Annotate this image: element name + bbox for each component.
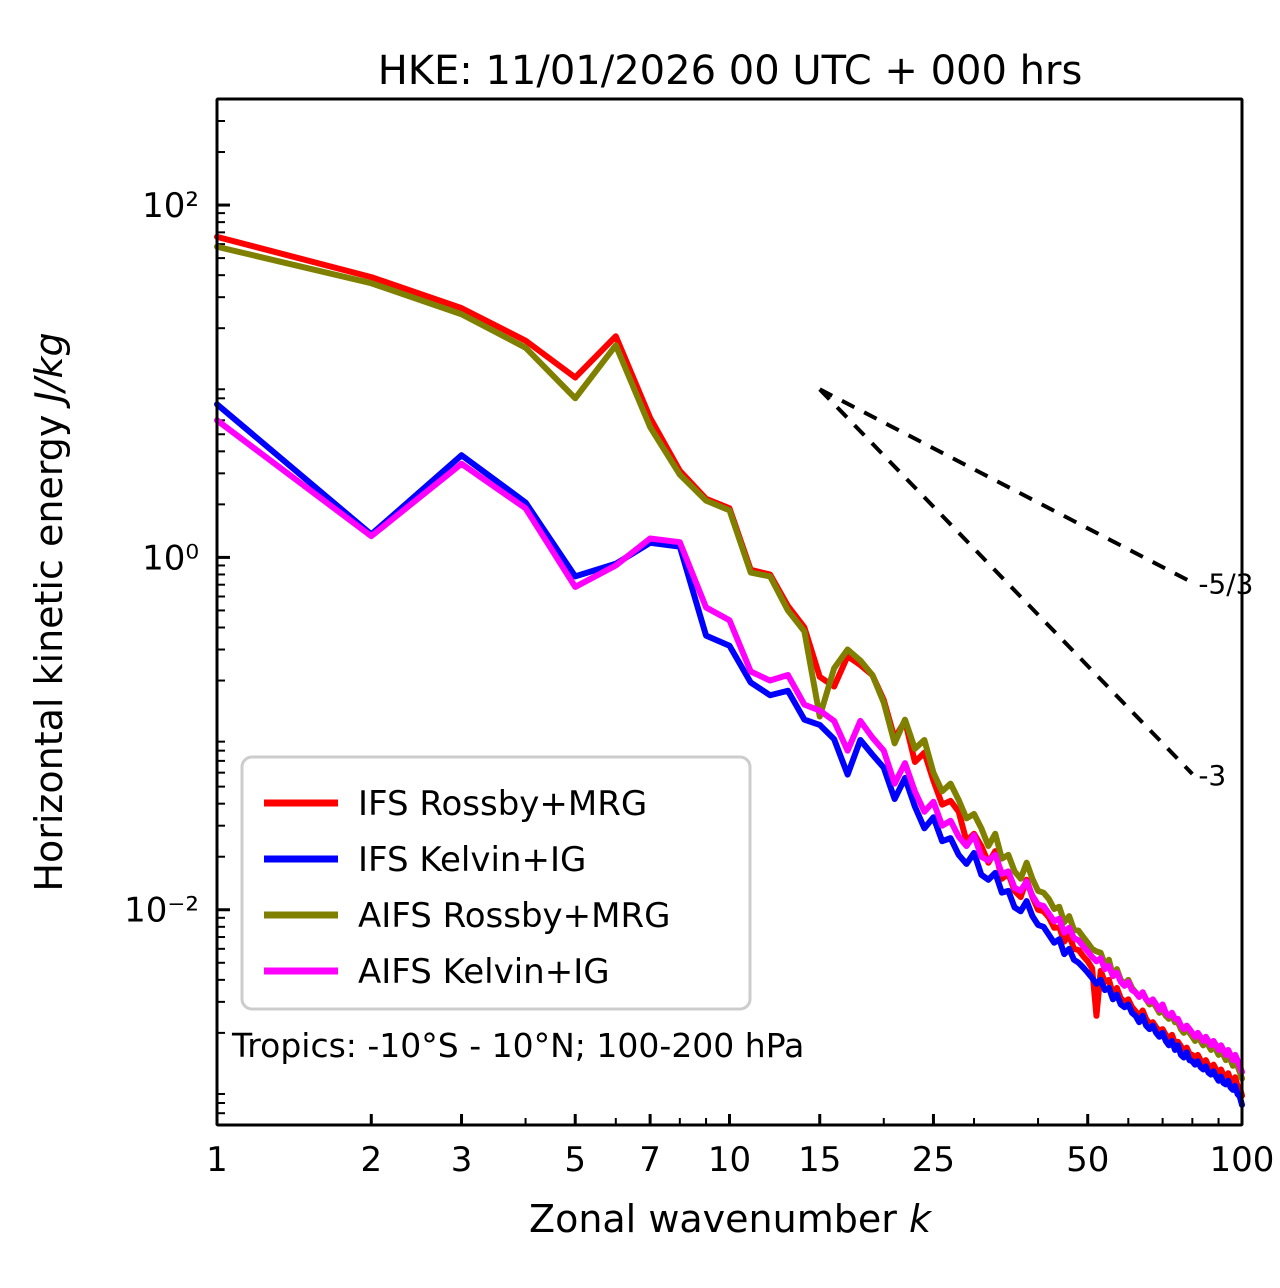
- legend[interactable]: IFS Rossby+MRGIFS Kelvin+IGAIFS Rossby+M…: [242, 757, 750, 1009]
- x-tick-label: 25: [912, 1140, 955, 1180]
- reference-line-label: -3: [1198, 759, 1226, 792]
- reference-line-label: -5/3: [1198, 568, 1253, 601]
- legend-label-ifs-rossby-mrg[interactable]: IFS Rossby+MRG: [358, 784, 647, 824]
- y-tick-label: 10⁰: [142, 538, 199, 578]
- legend-label-aifs-kelvin-ig[interactable]: AIFS Kelvin+IG: [358, 952, 610, 992]
- y-axis-label: Horizontal kinetic energy J/kg: [27, 332, 71, 891]
- x-axis-label: Zonal wavenumber k: [529, 1197, 933, 1241]
- x-tick-label: 5: [564, 1140, 586, 1180]
- y-tick-label: 10⁻²: [124, 891, 199, 931]
- x-tick-label: 3: [451, 1140, 473, 1180]
- x-tick-label: 15: [798, 1140, 841, 1180]
- x-tick-label: 100: [1210, 1140, 1275, 1180]
- hke-spectra-figure: HKE: 11/01/2026 00 UTC + 000 hrs 1235710…: [0, 0, 1280, 1288]
- x-tick-label: 10: [708, 1140, 751, 1180]
- x-tick-label: 2: [360, 1140, 382, 1180]
- region-annotation: Tropics: -10°S - 10°N; 100-200 hPa: [231, 1026, 804, 1065]
- legend-label-ifs-kelvin-ig[interactable]: IFS Kelvin+IG: [358, 840, 586, 880]
- x-tick-label: 1: [206, 1140, 228, 1180]
- y-tick-label: 10²: [142, 186, 199, 226]
- x-tick-label: 7: [639, 1140, 661, 1180]
- x-tick-label: 50: [1066, 1140, 1109, 1180]
- chart-title: HKE: 11/01/2026 00 UTC + 000 hrs: [378, 48, 1083, 94]
- legend-label-aifs-rossby-mrg[interactable]: AIFS Rossby+MRG: [358, 896, 670, 936]
